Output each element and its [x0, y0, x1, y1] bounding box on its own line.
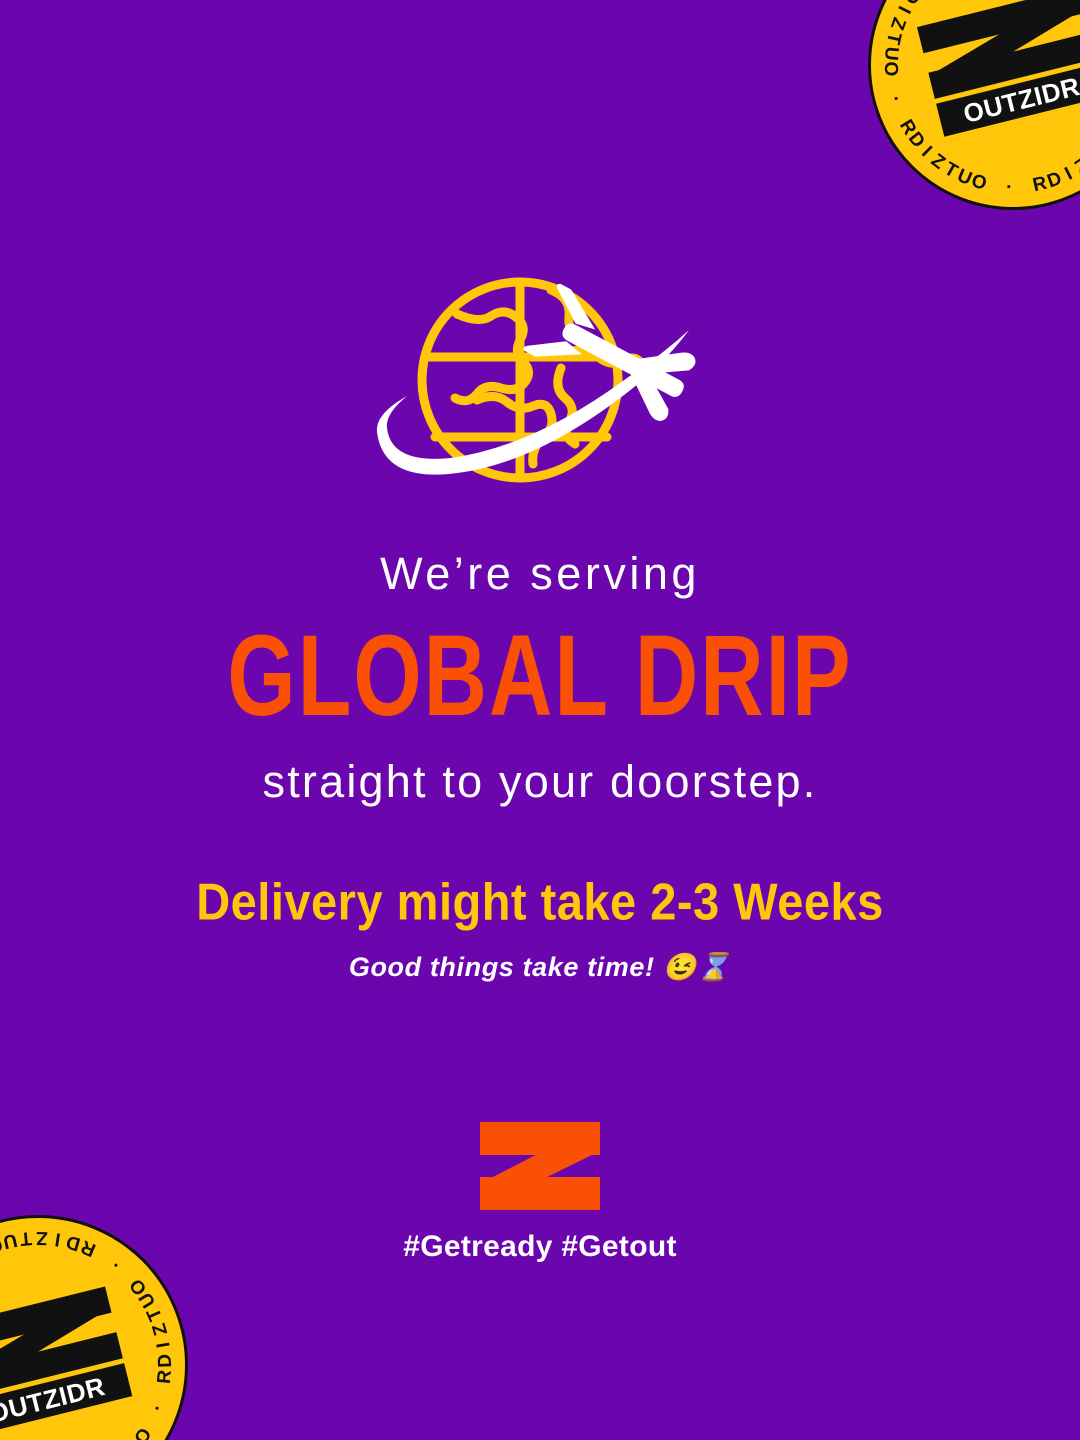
badge-ring-char: I [153, 1340, 176, 1349]
footer-block: #Getready #Getout [0, 1122, 1080, 1264]
badge-ring-char: R [154, 1368, 177, 1384]
copy-block: We’re serving GLOBAL DRIP straight to yo… [0, 548, 1080, 983]
globe-airplane-icon [365, 272, 715, 497]
badge-ring-char: Z [885, 14, 910, 33]
badge-ring-char: · [883, 93, 906, 106]
outzidr-badge-top-right: OUTZIDR·OUTZIDR·OUTZIDR·OUTZIDR·OUTZIDR·… [868, 0, 1080, 210]
delivery-time-note: Delivery might take 2-3 Weeks [0, 871, 1080, 932]
badge-ring-char: O [131, 1424, 158, 1440]
badge-ring-char: T [18, 1226, 32, 1249]
badge-ring-char: · [107, 1253, 126, 1275]
tagline-line-1: We’re serving [0, 548, 1080, 600]
tagline-line-3: straight to your doorstep. [0, 756, 1080, 808]
badge-ring-char: O [879, 61, 902, 77]
badge-ring-char: · [1006, 177, 1014, 199]
badge-ring-char: D [155, 1353, 177, 1368]
badge-ring-char: · [147, 1401, 170, 1415]
badge-ring-char: U [879, 46, 902, 62]
outzidr-z-logo [480, 1122, 600, 1210]
badge-ring-char: Z [149, 1320, 174, 1338]
badge-ring-char: T [881, 30, 905, 47]
delivery-subnote: Good things take time! 😉⌛ [0, 951, 1080, 983]
badge-ring-char: Z [35, 1226, 48, 1248]
hero-icon-container [0, 272, 1080, 497]
poster-canvas: OUTZIDR·OUTZIDR·OUTZIDR·OUTZIDR·OUTZIDR·… [0, 0, 1080, 1440]
hashtags-text: #Getready #Getout [0, 1230, 1080, 1264]
badge-ring-char: I [53, 1227, 62, 1250]
headline-global-drip: GLOBAL DRIP [0, 612, 1080, 741]
